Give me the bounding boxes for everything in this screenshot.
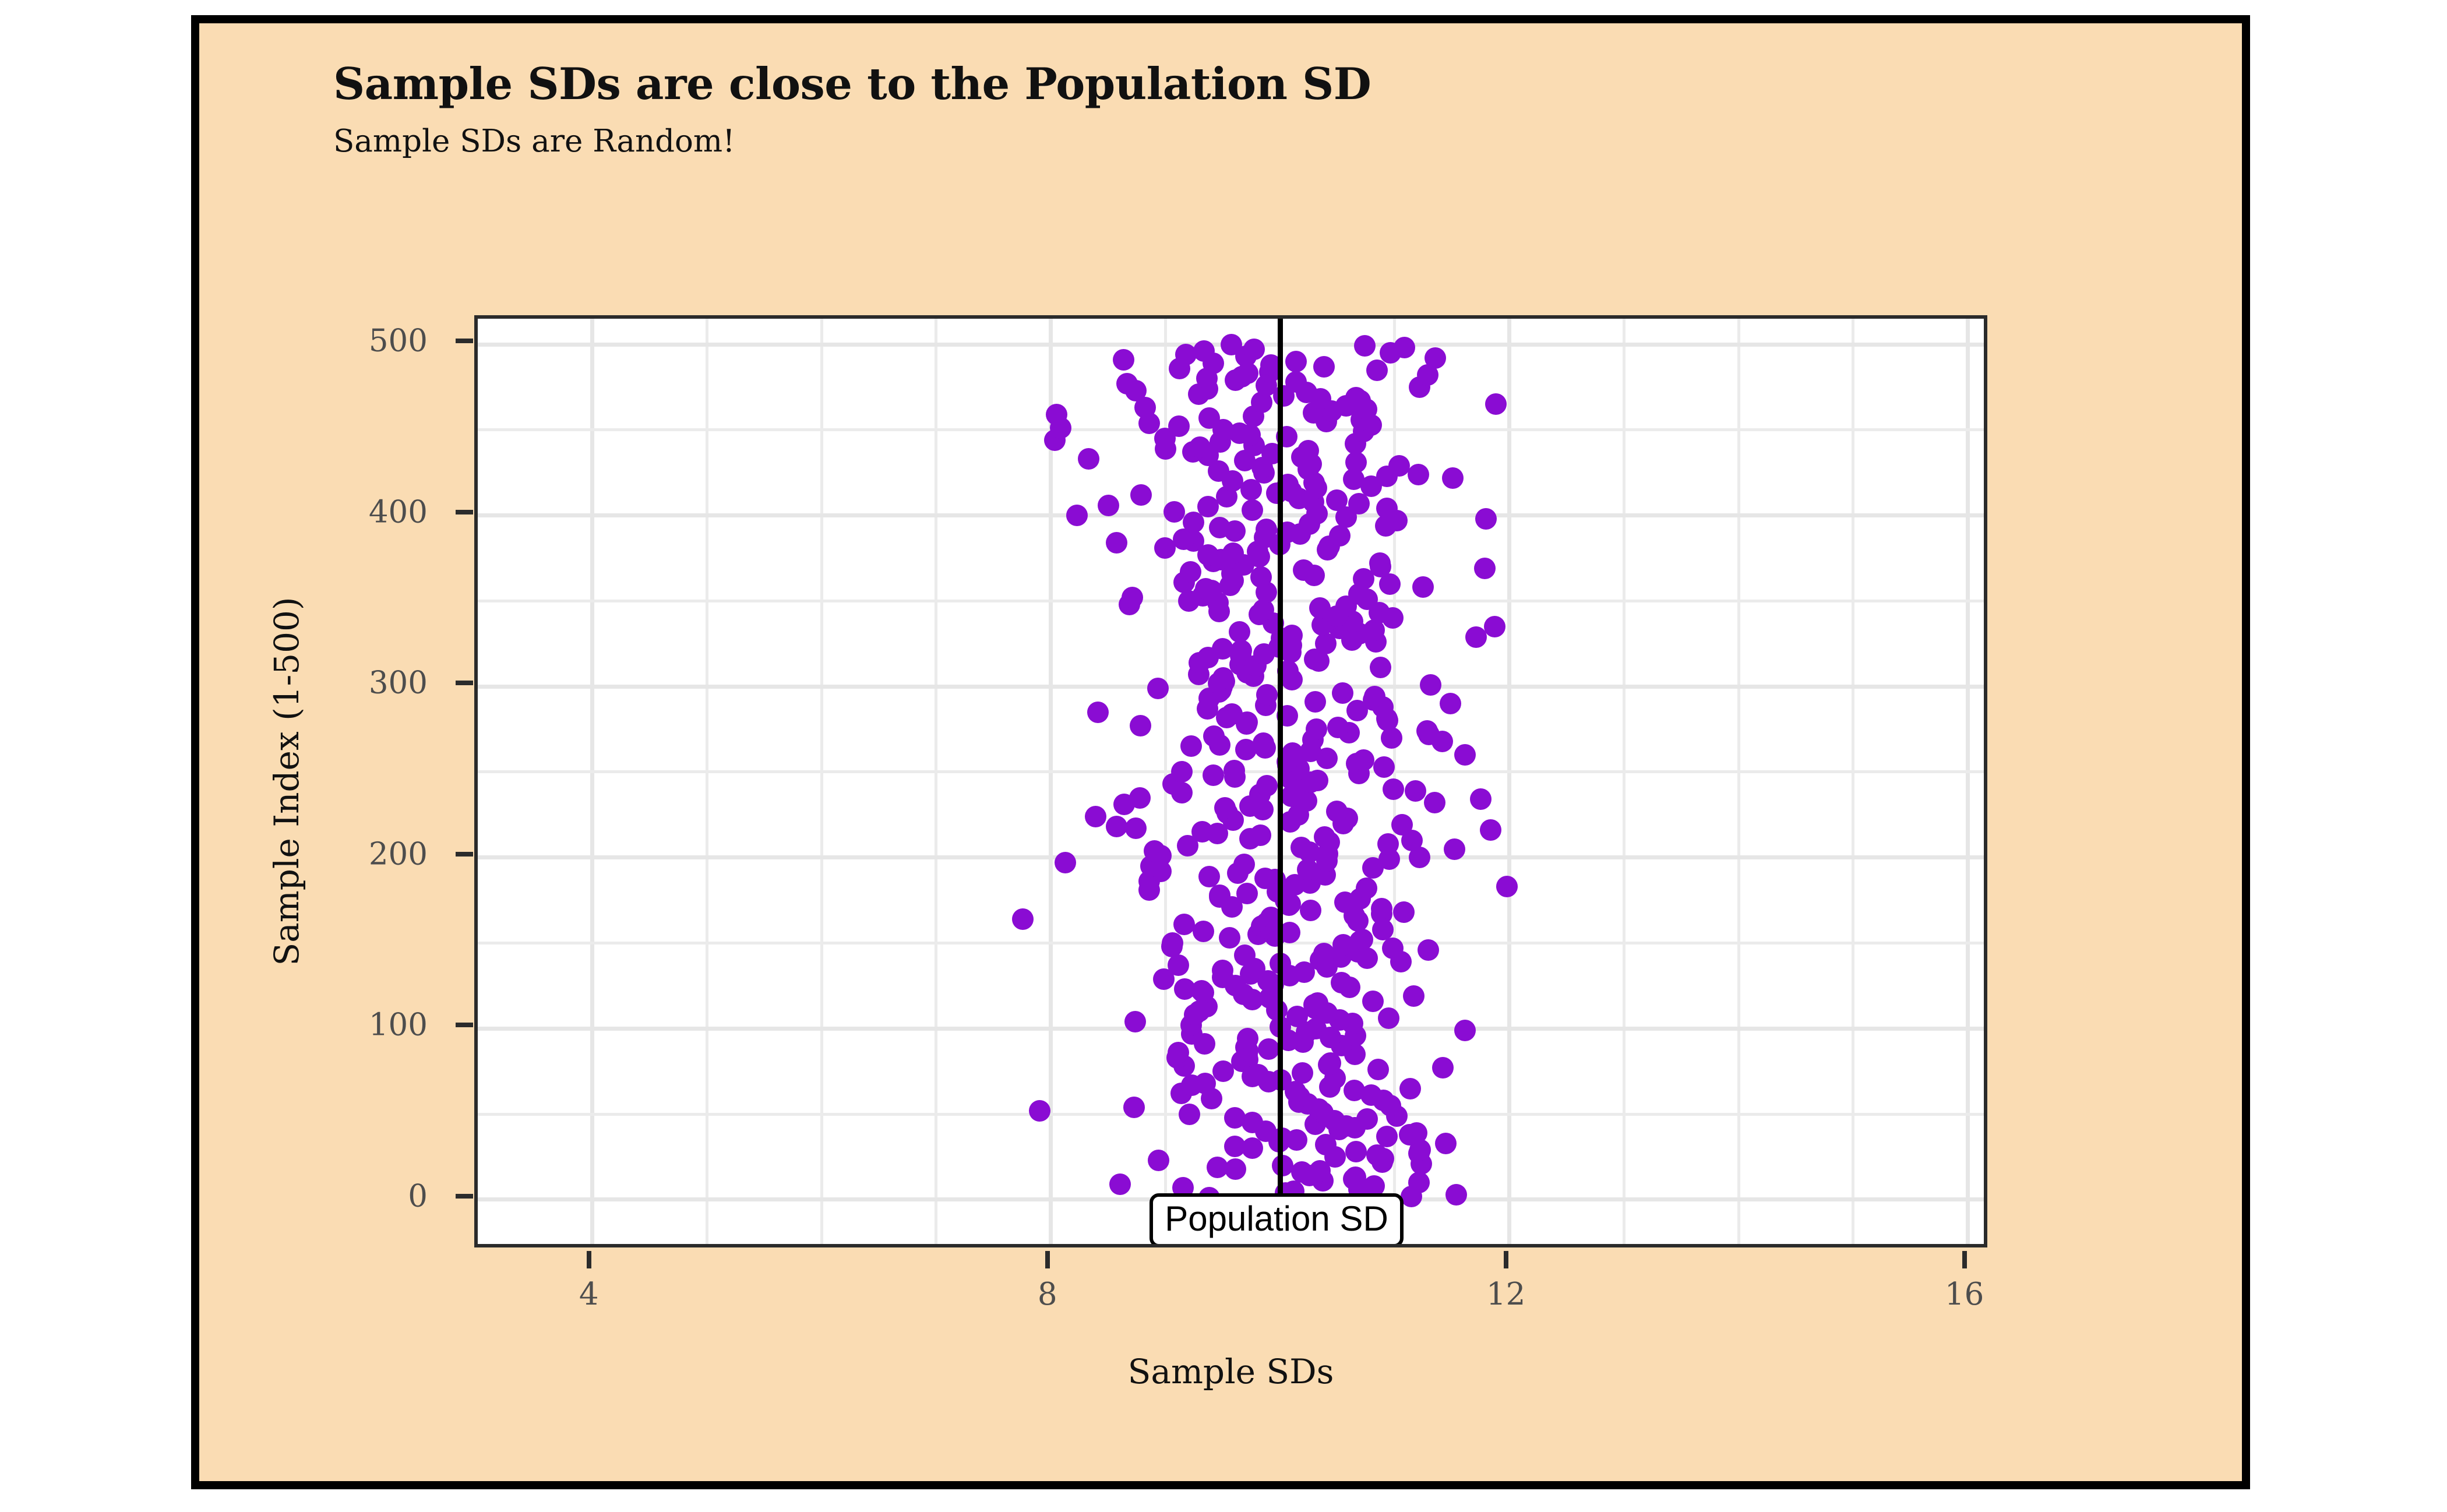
x-axis-tick-mark: [1045, 1251, 1050, 1268]
scatter-point: [1496, 876, 1518, 897]
scatter-point: [1327, 717, 1349, 738]
scatter-point: [1085, 806, 1106, 827]
scatter-point: [1292, 1062, 1313, 1084]
scatter-point: [1162, 932, 1183, 954]
scatter-point: [1345, 452, 1367, 473]
x-axis-label: Sample SDs: [474, 1352, 1987, 1391]
scatter-point: [1378, 1007, 1399, 1029]
scatter-point: [1078, 448, 1099, 470]
scatter-point: [1383, 778, 1404, 800]
scatter-point: [1352, 929, 1373, 950]
scatter-point: [1345, 1166, 1366, 1188]
scatter-point: [1012, 908, 1034, 930]
scatter-point: [1243, 339, 1265, 360]
gridline-vertical: [590, 319, 594, 1244]
scatter-point: [1256, 775, 1278, 796]
scatter-point: [1313, 356, 1335, 378]
scatter-point: [1304, 691, 1326, 713]
y-axis-tick-mark: [456, 681, 473, 685]
scatter-point: [1163, 501, 1185, 523]
gridline-vertical: [1507, 319, 1511, 1244]
scatter-point: [1168, 415, 1190, 437]
chart-subtitle: Sample SDs are Random!: [333, 124, 735, 159]
scatter-point: [1116, 373, 1138, 394]
scatter-point: [1366, 360, 1388, 381]
scatter-point: [1180, 561, 1201, 583]
scatter-point: [1106, 816, 1127, 837]
y-axis-tick-label: 0: [408, 1178, 428, 1214]
scatter-point: [1440, 693, 1461, 714]
scatter-point: [1066, 505, 1088, 526]
scatter-point: [1485, 393, 1507, 415]
scatter-point: [1234, 944, 1256, 966]
y-axis-tick-mark: [456, 339, 473, 343]
y-axis-tick-mark: [456, 1023, 473, 1027]
gridline-vertical: [1623, 319, 1626, 1244]
scatter-point: [1377, 833, 1399, 855]
scatter-point: [1408, 464, 1429, 485]
scatter-point: [1130, 484, 1152, 506]
scatter-point: [1297, 440, 1319, 461]
scatter-point: [1444, 838, 1465, 860]
scatter-point: [1233, 854, 1255, 875]
population-sd-label: Population SD: [1150, 1193, 1404, 1244]
scatter-point: [1106, 532, 1127, 554]
scatter-point: [1307, 770, 1328, 791]
scatter-point: [1087, 702, 1109, 723]
scatter-point: [1254, 868, 1276, 889]
scatter-point: [1285, 351, 1307, 372]
scatter-point: [1373, 756, 1395, 778]
scatter-point: [1376, 498, 1398, 519]
scatter-point: [1403, 985, 1425, 1007]
scatter-point: [1475, 508, 1497, 530]
scatter-point: [1388, 455, 1410, 477]
scatter-point: [1258, 1038, 1279, 1060]
y-axis-tick-mark: [456, 852, 473, 857]
scatter-point: [1212, 960, 1233, 981]
scatter-point: [1344, 1080, 1365, 1101]
scatter-point: [1370, 657, 1391, 678]
x-axis-tick-mark: [587, 1251, 591, 1268]
scatter-point: [1281, 625, 1303, 646]
scatter-point: [1223, 760, 1245, 781]
scatter-point: [1354, 335, 1376, 357]
scatter-point: [1256, 684, 1278, 706]
plot-area: Population SD: [478, 319, 1984, 1244]
scatter-point: [1124, 1011, 1146, 1032]
scatter-point: [1130, 715, 1151, 736]
scatter-point: [1122, 587, 1143, 608]
scatter-point: [1207, 1157, 1228, 1178]
scatter-point: [1179, 1104, 1200, 1125]
scatter-point: [1219, 927, 1240, 949]
scatter-point: [1194, 1073, 1216, 1094]
scatter-point: [1197, 496, 1219, 517]
scatter-point: [1313, 943, 1335, 964]
scatter-point: [1173, 914, 1195, 935]
x-axis-tick-label: 12: [1486, 1277, 1525, 1312]
scatter-point: [1412, 576, 1434, 598]
x-axis-tick-label: 4: [579, 1277, 599, 1312]
x-axis-tick-label: 8: [1038, 1277, 1057, 1312]
y-axis-tick-label: 500: [369, 323, 428, 359]
y-axis-tick-mark: [456, 510, 473, 514]
scatter-point: [1367, 1059, 1389, 1080]
scatter-point: [1465, 626, 1487, 648]
gridline-vertical: [820, 319, 823, 1244]
scatter-point: [1144, 840, 1165, 862]
x-axis-tick-mark: [1962, 1251, 1967, 1268]
scatter-point: [1203, 764, 1224, 786]
scatter-point: [1425, 347, 1446, 369]
scatter-point: [1293, 559, 1314, 581]
scatter-point: [1420, 674, 1441, 696]
scatter-point: [1125, 817, 1147, 839]
gridline-horizontal: [478, 513, 1984, 517]
plot-panel: Population SD: [474, 315, 1987, 1247]
gridline-vertical: [1966, 319, 1970, 1244]
scatter-point: [1454, 744, 1476, 766]
y-axis-label: Sample Index (1-500): [267, 597, 306, 965]
scatter-point: [1424, 792, 1445, 813]
scatter-point: [1345, 1141, 1367, 1162]
gridline-vertical: [706, 319, 708, 1244]
scatter-point: [1356, 877, 1377, 899]
y-axis-tick-label: 400: [369, 494, 428, 530]
scatter-point: [1484, 616, 1505, 637]
scatter-point: [1272, 1155, 1293, 1176]
scatter-point: [1253, 732, 1274, 754]
y-axis-tick-mark: [456, 1194, 473, 1199]
chart-title: Sample SDs are close to the Population S…: [333, 58, 1371, 110]
scatter-point: [1174, 978, 1196, 1000]
scatter-point: [1408, 1172, 1430, 1193]
scatter-point: [1198, 407, 1220, 429]
scatter-point: [1214, 797, 1236, 819]
scatter-point: [1309, 597, 1331, 619]
scatter-point: [1129, 787, 1151, 809]
y-axis-tick-label: 300: [369, 665, 428, 701]
scatter-point: [1113, 349, 1134, 371]
scatter-point: [1209, 517, 1230, 538]
scatter-point: [1055, 852, 1076, 873]
scatter-point: [1442, 467, 1464, 489]
scatter-point: [1250, 824, 1271, 846]
scatter-point: [1326, 801, 1348, 822]
scatter-point: [1222, 542, 1244, 564]
scatter-point: [1470, 788, 1492, 810]
scatter-point: [1291, 837, 1312, 858]
scatter-point: [1193, 921, 1214, 942]
scatter-point: [1109, 1173, 1131, 1195]
scatter-point: [1300, 900, 1321, 921]
gridline-horizontal: [478, 1027, 1984, 1031]
scatter-point: [1376, 1126, 1398, 1147]
scatter-point: [1209, 884, 1230, 906]
scatter-point: [1098, 495, 1119, 516]
scatter-point: [1356, 1108, 1378, 1130]
scatter-point: [1250, 566, 1272, 588]
scatter-point: [1221, 703, 1243, 725]
gridline-vertical: [1737, 319, 1740, 1244]
gridline-vertical: [1852, 319, 1854, 1244]
scatter-point: [1306, 718, 1327, 740]
y-axis-tick-label: 100: [369, 1007, 428, 1043]
scatter-point: [1435, 1133, 1457, 1154]
scatter-point: [1393, 901, 1415, 923]
scatter-point: [1229, 621, 1250, 643]
scatter-point: [1171, 761, 1193, 783]
scatter-point: [1432, 1057, 1454, 1079]
scatter-point: [1147, 678, 1169, 699]
scatter-point: [1364, 686, 1385, 707]
scatter-point: [1236, 883, 1258, 904]
gridline-horizontal: [478, 600, 1984, 602]
scatter-point: [1168, 954, 1189, 976]
scatter-point: [1046, 404, 1067, 425]
scatter-point: [1168, 1042, 1189, 1063]
scatter-point: [1382, 937, 1404, 959]
scatter-point: [1212, 638, 1233, 660]
figure-canvas: Sample SDs are close to the Population S…: [0, 0, 2447, 1512]
scatter-point: [1329, 525, 1351, 547]
scatter-point: [1332, 682, 1353, 704]
scatter-point: [1454, 1020, 1476, 1041]
scatter-point: [1224, 1136, 1246, 1157]
scatter-point: [1399, 1078, 1421, 1099]
scatter-point: [1191, 821, 1213, 843]
scatter-point: [1224, 1107, 1246, 1129]
scatter-point: [1405, 780, 1426, 802]
x-axis-tick-mark: [1504, 1251, 1508, 1268]
scatter-point: [1445, 1184, 1467, 1206]
gridline-vertical: [1049, 319, 1053, 1244]
scatter-point: [1029, 1100, 1050, 1122]
y-axis-tick-label: 200: [369, 836, 428, 872]
figure-card: Sample SDs are close to the Population S…: [191, 15, 2250, 1489]
scatter-point: [1198, 866, 1220, 887]
scatter-point: [1221, 334, 1242, 355]
scatter-point: [1474, 558, 1496, 579]
scatter-point: [1230, 640, 1252, 661]
scatter-point: [1307, 992, 1328, 1014]
scatter-point: [1394, 337, 1415, 358]
scatter-point: [1353, 749, 1374, 771]
scatter-point: [1406, 1122, 1427, 1144]
scatter-point: [1180, 735, 1202, 757]
gridline-horizontal: [478, 855, 1984, 859]
scatter-point: [1480, 819, 1501, 841]
gridline-vertical: [935, 319, 937, 1244]
scatter-point: [1362, 991, 1384, 1012]
scatter-point: [1189, 436, 1211, 458]
scatter-point: [1314, 826, 1335, 848]
x-axis-tick-label: 16: [1945, 1277, 1984, 1312]
population-sd-reference-line: [1278, 319, 1283, 1244]
scatter-point: [1195, 578, 1217, 600]
scatter-point: [1418, 939, 1439, 961]
scatter-point: [1123, 1097, 1145, 1118]
scatter-point: [1203, 725, 1225, 747]
scatter-point: [1345, 387, 1367, 408]
scatter-point: [1242, 499, 1263, 521]
scatter-point: [1256, 519, 1277, 540]
scatter-point: [1326, 489, 1348, 511]
